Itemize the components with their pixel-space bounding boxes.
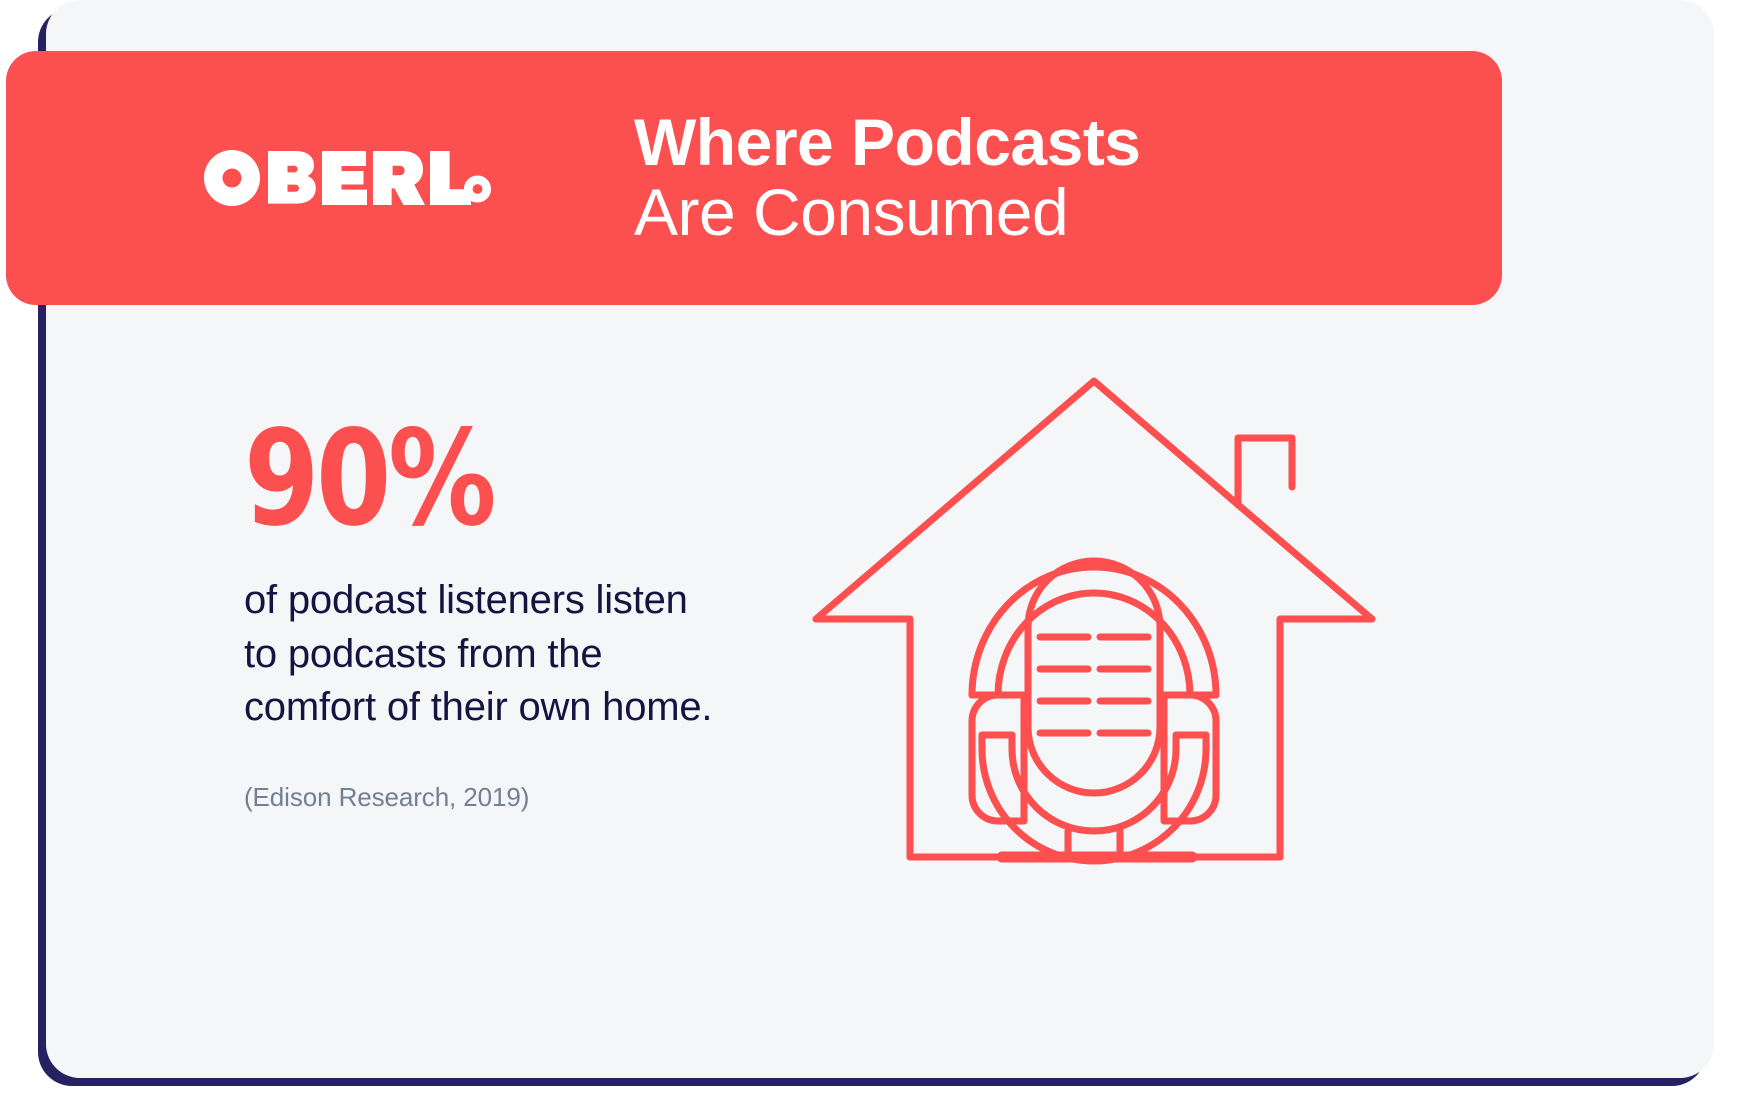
card-body: 90% of podcast listeners listen to podca… bbox=[46, 305, 1714, 1078]
header-title-line-1: Where Podcasts bbox=[634, 108, 1141, 178]
header-banner: Where Podcasts Are Consumed bbox=[6, 51, 1502, 305]
house-microphone-illustration bbox=[806, 365, 1406, 885]
microphone-grille-lines bbox=[1040, 637, 1148, 733]
oberlo-logo bbox=[202, 148, 492, 208]
infographic-canvas: Where Podcasts Are Consumed 90% of podca… bbox=[0, 0, 1740, 1105]
house-outline bbox=[816, 381, 1372, 857]
stat-description: of podcast listeners listen to podcasts … bbox=[244, 574, 714, 734]
header-title: Where Podcasts Are Consumed bbox=[634, 108, 1141, 248]
microphone-cradle bbox=[982, 735, 1206, 861]
stat-source-citation: (Edison Research, 2019) bbox=[244, 782, 764, 813]
stat-block: 90% of podcast listeners listen to podca… bbox=[244, 415, 764, 813]
stat-value: 90% bbox=[244, 415, 670, 544]
header-title-line-2: Are Consumed bbox=[634, 178, 1141, 248]
infographic-card: Where Podcasts Are Consumed 90% of podca… bbox=[46, 0, 1714, 1078]
headphone-band bbox=[972, 567, 1216, 695]
